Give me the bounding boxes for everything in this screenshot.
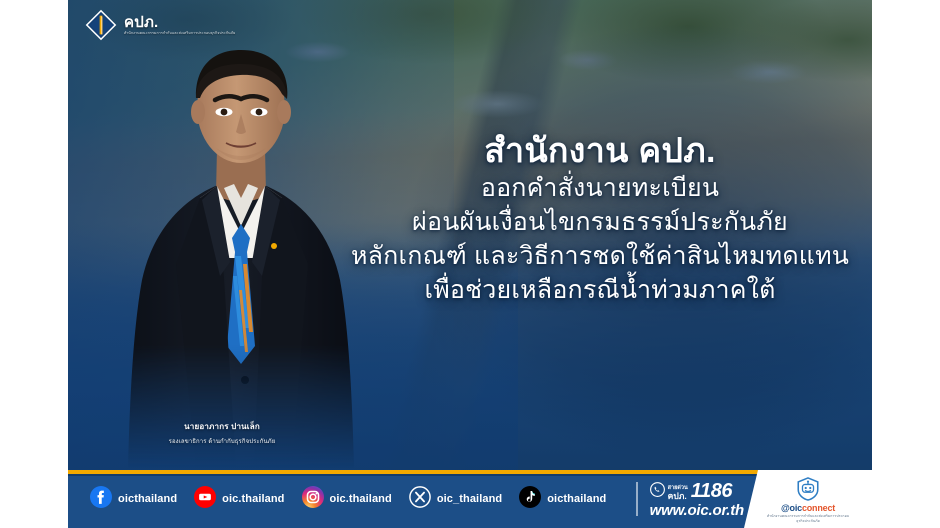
hotline-text: สายด่วน คปภ. 1186 www.oic.or.th [650, 481, 744, 518]
social-link-instagram[interactable]: oic.thailand [302, 486, 392, 513]
social-link-youtube[interactable]: oic.thailand [194, 486, 284, 513]
footer-dark-rule [68, 474, 872, 476]
phone-icon [650, 482, 665, 501]
diamond-logo-icon [84, 8, 118, 42]
hotline-divider [636, 482, 638, 516]
hotline-number: 1186 [691, 481, 732, 501]
tiktok-icon [519, 486, 541, 513]
brand-text: คปภ. สำนักงานคณะกรรมการกำกับและส่งเสริมก… [124, 15, 235, 36]
instagram-icon [302, 486, 324, 513]
x-twitter-icon [409, 486, 431, 513]
facebook-icon [90, 486, 112, 513]
oicconnect-badge[interactable]: @oicconnect สำนักงานคณะกรรมการกำกับและส่… [766, 476, 850, 524]
youtube-icon [194, 486, 216, 513]
headline-line-3: ผ่อนผันเงื่อนไขกรมธรรม์ประกันภัย [340, 205, 860, 239]
oicconnect-tagline: สำนักงานคณะกรรมการกำกับและส่งเสริมการประ… [766, 514, 850, 524]
executive-portrait [116, 28, 366, 468]
social-label-tiktok: oicthailand [547, 493, 606, 505]
hotline-block[interactable]: สายด่วน คปภ. 1186 www.oic.or.th [636, 470, 744, 528]
hotline-label-org: คปภ. [668, 492, 688, 501]
social-link-facebook[interactable]: oicthailand [90, 486, 177, 513]
oicconnect-shield-icon [766, 476, 850, 502]
headline-line-5: เพื่อช่วยเหลือกรณีน้ำท่วมภาคใต้ [340, 273, 860, 307]
social-label-instagram: oic.thailand [330, 493, 392, 505]
oicconnect-handle-prefix: @oic [781, 503, 802, 513]
hotline-top-row: สายด่วน คปภ. 1186 [650, 481, 744, 501]
speaker-role: รองเลขาธิการ ด้านกำกับธุรกิจประกันภัย [112, 436, 332, 446]
social-label-facebook: oicthailand [118, 493, 177, 505]
footer-bar: oicthailand oic.thailand [68, 470, 872, 528]
social-link-x[interactable]: oic_thailand [409, 486, 502, 513]
headline-block: สำนักงาน คปภ. ออกคำสั่งนายทะเบียน ผ่อนผั… [340, 132, 860, 307]
oicconnect-handle: @oicconnect [766, 503, 850, 513]
hotline-website[interactable]: www.oic.or.th [650, 503, 744, 518]
hotline-labels: สายด่วน คปภ. [668, 486, 688, 501]
brand-subtitle: สำนักงานคณะกรรมการกำกับและส่งเสริมการประ… [124, 32, 235, 36]
speaker-name: นายอาภากร ปานเล็ก [112, 420, 332, 433]
screenshot-root: คปภ. สำนักงานคณะกรรมการกำกับและส่งเสริมก… [0, 0, 940, 528]
headline-line-4: หลักเกณฑ์ และวิธีการชดใช้ค่าสินไหมทดแทน [340, 239, 860, 273]
brand-name: คปภ. [124, 15, 235, 30]
social-links: oicthailand oic.thailand [90, 482, 606, 516]
poster-artwork: คปภ. สำนักงานคณะกรรมการกำกับและส่งเสริมก… [68, 0, 872, 528]
speaker-caption: นายอาภากร ปานเล็ก รองเลขาธิการ ด้านกำกับ… [112, 420, 332, 446]
social-label-youtube: oic.thailand [222, 493, 284, 505]
headline-line-2: ออกคำสั่งนายทะเบียน [340, 171, 860, 205]
social-label-x: oic_thailand [437, 493, 502, 505]
brand-logo: คปภ. สำนักงานคณะกรรมการกำกับและส่งเสริมก… [84, 8, 235, 42]
headline-line-1: สำนักงาน คปภ. [340, 132, 860, 171]
social-link-tiktok[interactable]: oicthailand [519, 486, 606, 513]
oicconnect-handle-suffix: connect [802, 503, 835, 513]
